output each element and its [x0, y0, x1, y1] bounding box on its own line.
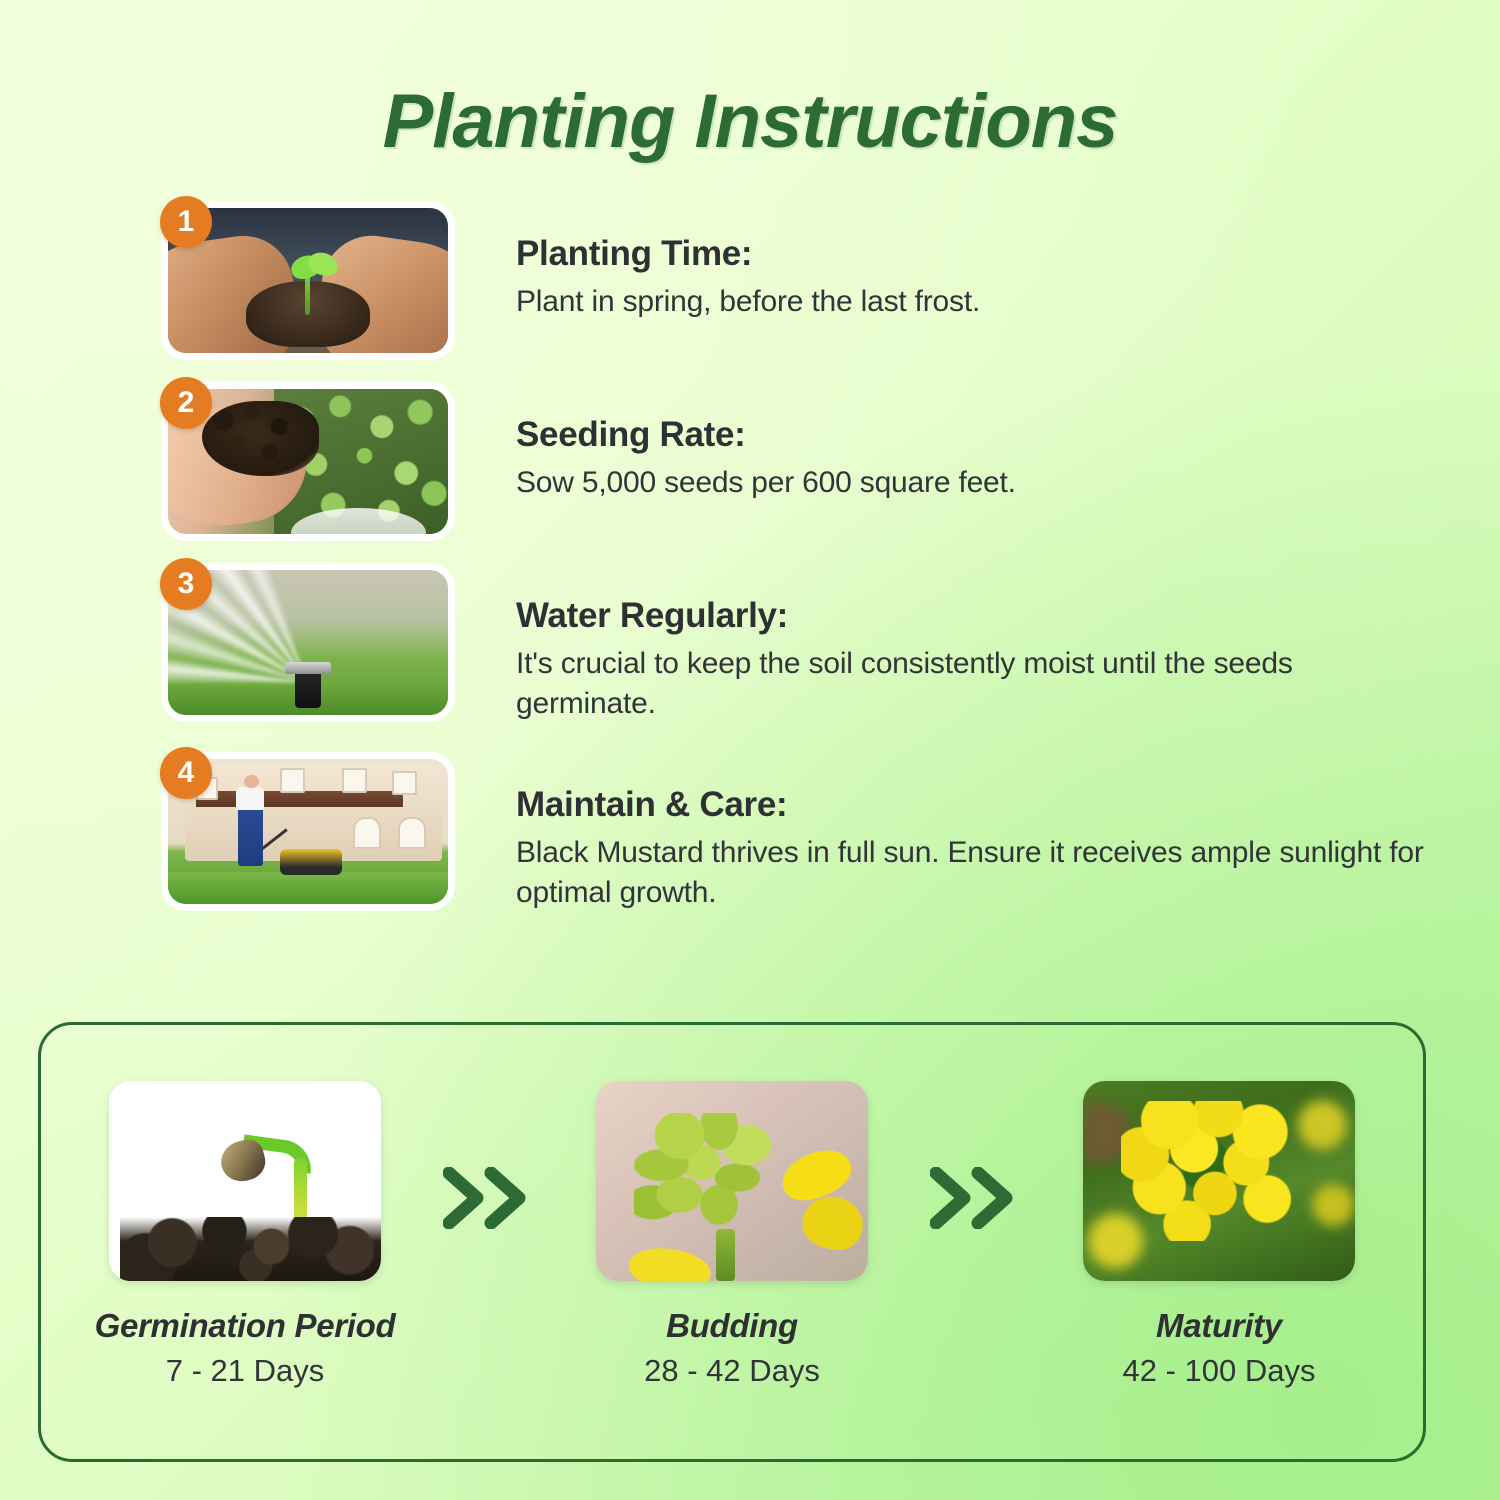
timeline-stage-label: Germination Period [75, 1307, 415, 1345]
timeline-image-budding [596, 1081, 868, 1281]
step-text: Maintain & Care: Black Mustard thrives i… [450, 747, 1440, 912]
step-item: 2 Seeding Rate: Sow 5,000 seeds per 600 … [160, 377, 1440, 534]
timeline-image-germination [109, 1081, 381, 1281]
step-body: Plant in spring, before the last frost. [516, 282, 980, 322]
double-chevron-right-icon [918, 1167, 1034, 1229]
timeline-stage-budding: Budding 28 - 42 Days [562, 1081, 902, 1389]
timeline-stage-value: 7 - 21 Days [75, 1353, 415, 1389]
step-thumbnail-wrap: 2 [160, 377, 450, 534]
step-body: Sow 5,000 seeds per 600 square feet. [516, 463, 1016, 503]
infographic-page: Planting Instructions 1 Planting T [0, 0, 1500, 1500]
timeline-stage-label: Maturity [1049, 1307, 1389, 1345]
step-thumbnail-wrap: 1 [160, 196, 450, 353]
step-title: Maintain & Care: [516, 785, 1440, 825]
step-item: 1 Planting Time: Plant in spring, before… [160, 196, 1440, 353]
timeline-stage-maturity: Maturity 42 - 100 Days [1049, 1081, 1389, 1389]
page-title: Planting Instructions [0, 78, 1500, 165]
timeline-stage-value: 28 - 42 Days [562, 1353, 902, 1389]
step-text: Water Regularly: It's crucial to keep th… [450, 558, 1440, 723]
step-number-badge: 1 [160, 196, 212, 248]
step-number-badge: 3 [160, 558, 212, 610]
timeline-image-maturity [1083, 1081, 1355, 1281]
step-title: Water Regularly: [516, 596, 1440, 636]
step-number-badge: 4 [160, 747, 212, 799]
step-text: Planting Time: Plant in spring, before t… [450, 196, 980, 322]
seedling-sprouting-icon [109, 1081, 381, 1281]
mustard-flower-buds-icon [596, 1081, 868, 1281]
step-thumbnail-wrap: 4 [160, 747, 450, 904]
step-thumbnail-wrap: 3 [160, 558, 450, 715]
step-item: 4 Maint [160, 747, 1440, 912]
step-body: It's crucial to keep the soil consistent… [516, 644, 1440, 723]
timeline-stage-germination: Germination Period 7 - 21 Days [75, 1081, 415, 1389]
growth-timeline-panel: Germination Period 7 - 21 Days Budd [38, 1022, 1426, 1462]
double-chevron-right-icon [431, 1167, 547, 1229]
step-body: Black Mustard thrives in full sun. Ensur… [516, 833, 1440, 912]
yellow-mustard-flowers-icon [1083, 1081, 1355, 1281]
timeline-stage-label: Budding [562, 1307, 902, 1345]
step-number-badge: 2 [160, 377, 212, 429]
step-title: Planting Time: [516, 234, 980, 274]
timeline-stage-value: 42 - 100 Days [1049, 1353, 1389, 1389]
steps-list: 1 Planting Time: Plant in spring, before… [160, 196, 1440, 936]
growth-timeline: Germination Period 7 - 21 Days Budd [41, 1025, 1423, 1459]
step-title: Seeding Rate: [516, 415, 1016, 455]
step-text: Seeding Rate: Sow 5,000 seeds per 600 sq… [450, 377, 1016, 503]
step-item: 3 Water Regularly: It's crucial to keep … [160, 558, 1440, 723]
